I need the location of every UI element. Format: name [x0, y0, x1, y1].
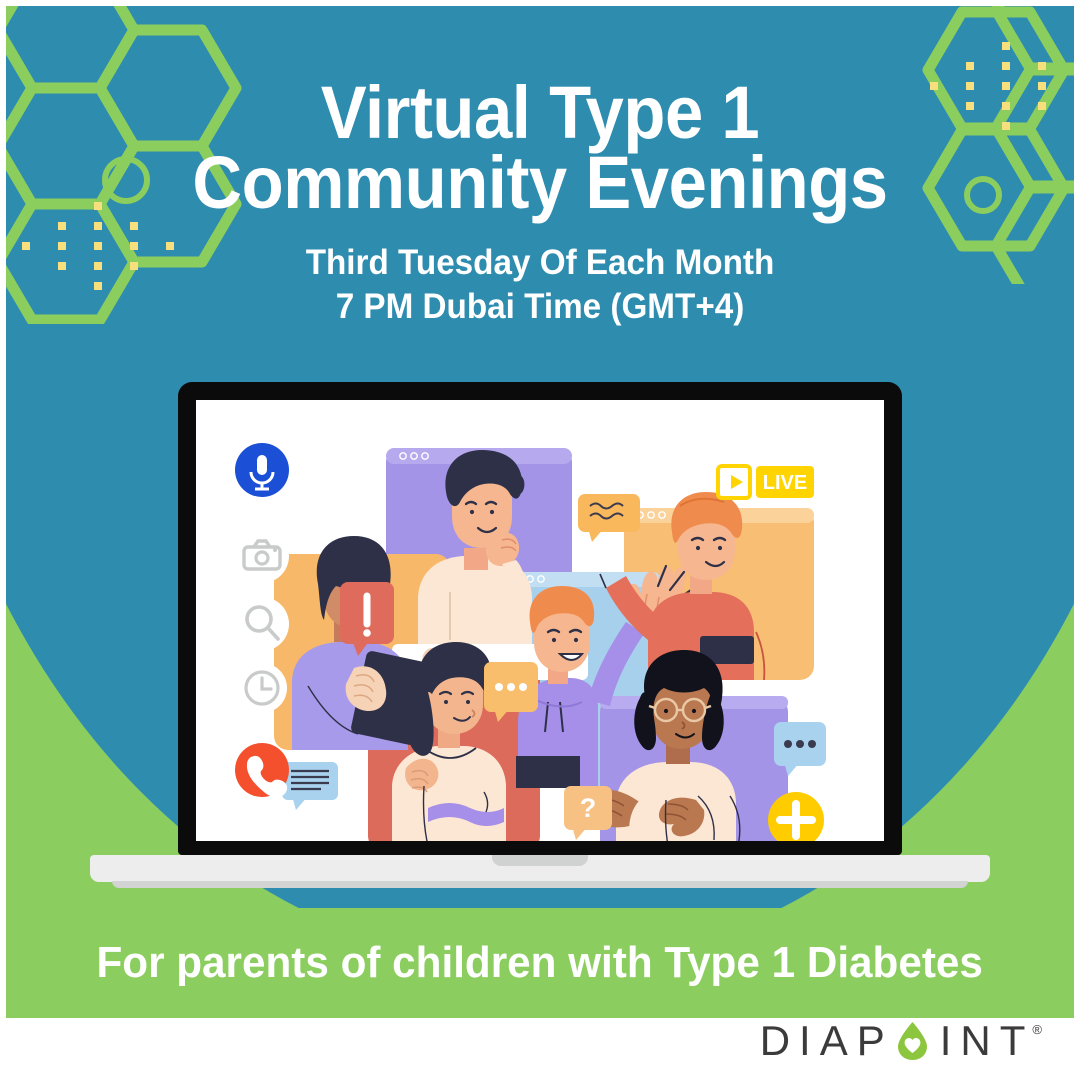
schedule-subtitle: Third Tuesday Of Each Month 7 PM Dubai T…: [27, 241, 1053, 331]
laptop-screen: ? LIVE: [196, 400, 884, 841]
schedule-time: 7 PM Dubai Time (GMT+4): [27, 285, 1053, 330]
control-end-call[interactable]: [235, 743, 289, 797]
control-microphone[interactable]: [235, 443, 289, 497]
logo-wordmark-part-1: DIAP: [760, 1020, 894, 1062]
laptop-mockup: ? LIVE: [178, 382, 902, 889]
diapoint-logo: DIAP INT ®: [760, 1020, 1042, 1066]
poster-canvas: Virtual Type 1 Community Evenings Third …: [0, 0, 1080, 1080]
water-drop-heart-icon: [896, 1021, 929, 1061]
caption-band: For parents of children with Type 1 Diab…: [6, 908, 1074, 1018]
laptop-lid: ? LIVE: [178, 382, 902, 855]
logo-wordmark-part-2: INT: [940, 1020, 1035, 1062]
page-title-line-2: Community Evenings: [38, 148, 1042, 218]
laptop-trackpad-notch: [492, 855, 588, 866]
live-badge-label: LIVE: [763, 472, 807, 494]
schedule-day: Third Tuesday Of Each Month: [27, 241, 1053, 286]
headline-block: Virtual Type 1 Community Evenings Third …: [0, 78, 1080, 330]
page-title-line-1: Virtual Type 1: [38, 78, 1042, 148]
text-lines-bubble: [282, 762, 338, 810]
live-badge: LIVE: [718, 466, 814, 498]
control-clock[interactable]: [237, 663, 287, 713]
laptop-base-shadow: [112, 881, 968, 888]
registered-trademark-mark: ®: [1032, 1022, 1042, 1037]
control-search[interactable]: [235, 597, 289, 651]
control-camera[interactable]: [235, 529, 289, 583]
logo-wordmark: DIAP INT: [760, 1020, 1035, 1062]
laptop-base: [90, 855, 990, 889]
svg-text:?: ?: [580, 793, 597, 823]
video-call-group-illustration: ? LIVE: [196, 400, 884, 841]
audience-caption: For parents of children with Type 1 Diab…: [97, 938, 983, 988]
